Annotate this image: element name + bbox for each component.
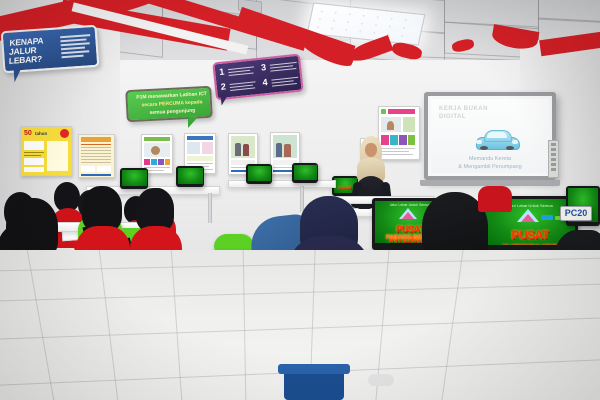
purple-bubble-number-1: 1: [219, 68, 225, 78]
projected-slide: KERJA BUKAN DIGITAL Memandu Kereta & Men…: [431, 99, 549, 173]
shoe: [368, 374, 394, 386]
monitor-back-1: [120, 168, 148, 189]
monitor-back-4: [292, 163, 318, 183]
car-illustration: [474, 128, 520, 150]
slide-caption-line1: Memandu Kereta: [431, 156, 549, 162]
purple-bubble-tail: [220, 93, 230, 106]
whiteboard-control-panel[interactable]: [548, 140, 559, 178]
desk-back-center: [228, 180, 336, 188]
purple-bubble-number-2: 2: [220, 82, 226, 92]
purple-bubble-number-4: 4: [262, 78, 268, 88]
green-bubble-tail: [188, 117, 198, 128]
green-bubble-line3: semua pengunjung: [133, 108, 211, 117]
student-back-right-red: [478, 186, 512, 212]
blue-bubble-heading: KENAPA JALUR LEBAR?: [9, 35, 62, 66]
slide-title: KERJA BUKAN DIGITAL: [439, 106, 499, 121]
desk-back-left-leg-2: [208, 193, 212, 223]
poster-yellow-small: [78, 134, 115, 178]
instructor-face: [365, 143, 377, 157]
signage-bubble-green: P1M menawarkan Latihan ICT secara PERCUM…: [125, 86, 213, 122]
blue-bubble-tail: [13, 66, 23, 83]
pc20-label: PC20: [560, 206, 592, 221]
slide-caption-line2: & Mengambil Penumpang: [431, 164, 549, 170]
poster-yellow-large: 50 tahun: [20, 126, 72, 176]
purple-bubble-number-3: 3: [261, 63, 267, 73]
monitor-back-3: [246, 164, 272, 184]
blue-stool-top: [278, 364, 350, 374]
projector-screen: KERJA BUKAN DIGITAL Memandu Kereta & Men…: [424, 92, 556, 180]
monitor-back-2: [176, 166, 204, 187]
classroom-photo: KENAPA JALUR LEBAR? P1M menawarkan Latih…: [0, 0, 600, 400]
